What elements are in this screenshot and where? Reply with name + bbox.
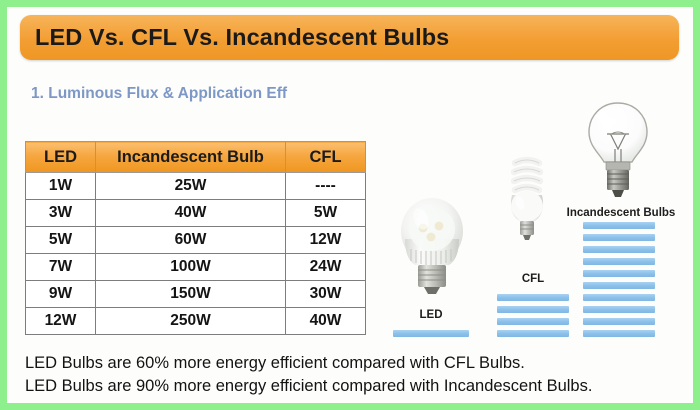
column-header-incandescent: Incandescent Bulb bbox=[96, 142, 286, 173]
bar-segment bbox=[583, 270, 655, 277]
cfl-spiral-bulb-icon bbox=[499, 151, 555, 247]
title-bar: LED Vs. CFL Vs. Incandescent Bulbs bbox=[20, 15, 679, 60]
cell-led: 12W bbox=[26, 308, 96, 335]
bar-segment bbox=[583, 222, 655, 229]
table-row: 7W 100W 24W bbox=[26, 254, 366, 281]
cell-led: 7W bbox=[26, 254, 96, 281]
bar-segment bbox=[583, 246, 655, 253]
cell-led: 5W bbox=[26, 227, 96, 254]
column-header-led: LED bbox=[26, 142, 96, 173]
cell-cfl: ---- bbox=[286, 173, 366, 200]
bar-stack-cfl bbox=[497, 294, 569, 337]
bar-segment bbox=[497, 294, 569, 301]
cell-cfl: 24W bbox=[286, 254, 366, 281]
bar-segment bbox=[497, 318, 569, 325]
footer-line-incandescent-comparison: LED Bulbs are 90% more energy efficient … bbox=[25, 375, 691, 398]
chart-label-incandescent: Incandescent Bulbs bbox=[559, 207, 683, 219]
bar-segment bbox=[583, 282, 655, 289]
cell-led: 9W bbox=[26, 281, 96, 308]
footer-line-cfl-comparison: LED Bulbs are 60% more energy efficient … bbox=[25, 352, 691, 375]
bar-segment bbox=[583, 318, 655, 325]
bar-segment bbox=[583, 234, 655, 241]
bar-segment bbox=[583, 258, 655, 265]
cell-incandescent: 150W bbox=[96, 281, 286, 308]
cell-cfl: 12W bbox=[286, 227, 366, 254]
table-row: 9W 150W 30W bbox=[26, 281, 366, 308]
cell-incandescent: 100W bbox=[96, 254, 286, 281]
cell-incandescent: 60W bbox=[96, 227, 286, 254]
table-header-row: LED Incandescent Bulb CFL bbox=[26, 142, 366, 173]
bar-stack-incandescent bbox=[583, 222, 655, 337]
cell-led: 3W bbox=[26, 200, 96, 227]
cell-led: 1W bbox=[26, 173, 96, 200]
chart-label-cfl: CFL bbox=[497, 273, 569, 285]
wattage-comparison-table: LED Incandescent Bulb CFL 1W 25W ---- 3W… bbox=[25, 141, 366, 335]
bar-segment bbox=[393, 330, 469, 337]
cell-cfl: 30W bbox=[286, 281, 366, 308]
cell-cfl: 40W bbox=[286, 308, 366, 335]
table-row: 1W 25W ---- bbox=[26, 173, 366, 200]
cell-incandescent: 25W bbox=[96, 173, 286, 200]
bulb-comparison-chart: LED CFL Incandescent Bulbs bbox=[387, 95, 693, 343]
bar-segment bbox=[583, 294, 655, 301]
column-header-cfl: CFL bbox=[286, 142, 366, 173]
cell-incandescent: 250W bbox=[96, 308, 286, 335]
section-subtitle: 1. Luminous Flux & Application Eff bbox=[31, 85, 287, 103]
chart-label-led: LED bbox=[393, 309, 469, 321]
incandescent-bulb-icon bbox=[585, 99, 651, 203]
table-row: 3W 40W 5W bbox=[26, 200, 366, 227]
bar-segment bbox=[497, 330, 569, 337]
cell-incandescent: 40W bbox=[96, 200, 286, 227]
bar-segment bbox=[497, 306, 569, 313]
bar-segment bbox=[583, 330, 655, 337]
footer: LED Bulbs are 60% more energy efficient … bbox=[25, 352, 691, 398]
bar-stack-led bbox=[393, 330, 469, 337]
led-bulb-icon bbox=[395, 195, 469, 299]
table-row: 5W 60W 12W bbox=[26, 227, 366, 254]
infographic-poster: LED Vs. CFL Vs. Incandescent Bulbs 1. Lu… bbox=[0, 0, 700, 410]
cell-cfl: 5W bbox=[286, 200, 366, 227]
table-row: 12W 250W 40W bbox=[26, 308, 366, 335]
bar-segment bbox=[583, 306, 655, 313]
page-title: LED Vs. CFL Vs. Incandescent Bulbs bbox=[20, 24, 449, 51]
